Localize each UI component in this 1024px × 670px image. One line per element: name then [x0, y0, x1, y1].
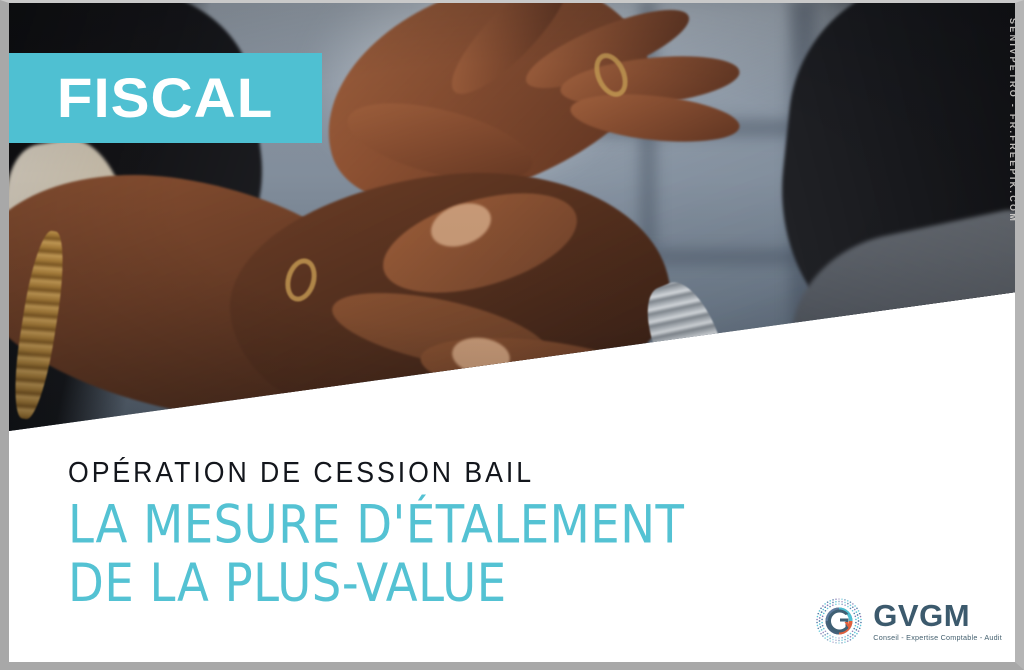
fiscal-banner: SENIVPETRO - FR.FREEPIK.COM FISCAL OPÉRA…	[0, 0, 1024, 670]
headline-line-1: LA MESURE D'ÉTALEMENT	[68, 495, 684, 557]
headline-block: OPÉRATION DE CESSION BAIL LA MESURE D'ÉT…	[68, 458, 691, 598]
eyebrow-text: OPÉRATION DE CESSION BAIL	[68, 458, 641, 488]
gvgm-logo-name: GVGM	[873, 600, 1002, 631]
gvgm-logo: GVGM Conseil - Expertise Comptable - Aud…	[814, 596, 1002, 646]
gvgm-logo-tagline: Conseil - Expertise Comptable - Audit	[873, 634, 1002, 641]
gvgm-logo-text: GVGM Conseil - Expertise Comptable - Aud…	[873, 600, 1002, 641]
photo-credit: SENIVPETRO - FR.FREEPIK.COM	[1008, 18, 1018, 223]
page-title: LA MESURE D'ÉTALEMENT DE LA PLUS-VALUE	[68, 499, 684, 610]
category-badge: FISCAL	[9, 53, 322, 143]
gvgm-logo-mark-icon	[814, 596, 864, 646]
category-badge-label: FISCAL	[57, 70, 274, 126]
headline-line-2: DE LA PLUS-VALUE	[68, 558, 684, 611]
